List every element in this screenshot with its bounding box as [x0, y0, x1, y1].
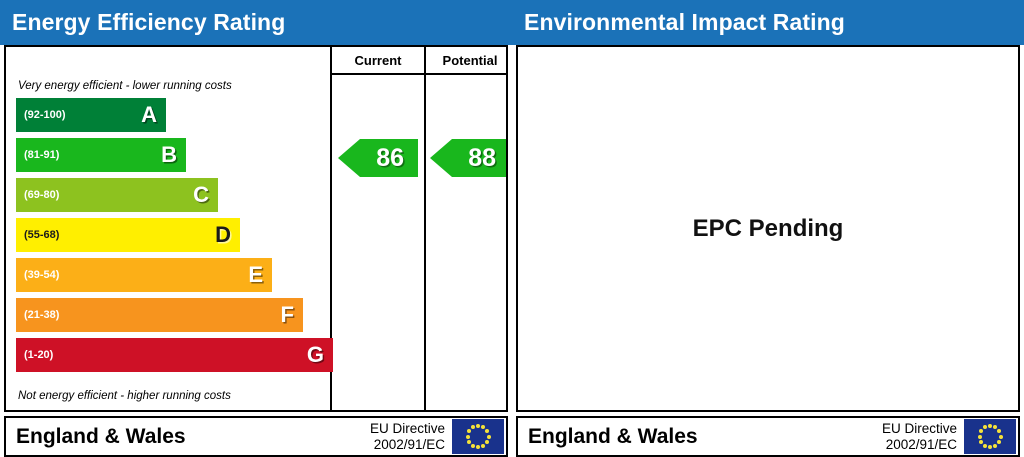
eu-star-icon — [997, 440, 1001, 444]
eu-star-icon — [487, 435, 491, 439]
band-range-label: (1-20) — [24, 350, 53, 361]
column-header-potential: Potential — [426, 47, 508, 73]
rating-band-b: (81-91)B — [16, 138, 186, 172]
eu-star-icon — [978, 435, 982, 439]
directive-line-1-secondary: EU Directive — [882, 421, 957, 436]
footer-directive-label: EU Directive 2002/91/EC — [370, 421, 452, 453]
rating-band-a: (92-100)A — [16, 98, 166, 132]
eu-star-icon — [979, 429, 983, 433]
eu-star-icon — [476, 424, 480, 428]
footer-directive-label-secondary: EU Directive 2002/91/EC — [882, 421, 964, 453]
eu-star-icon — [993, 444, 997, 448]
directive-line-1: EU Directive — [370, 421, 445, 436]
energy-efficiency-header: Energy Efficiency Rating — [0, 0, 512, 45]
band-letter-label: A — [141, 104, 157, 126]
band-range-label: (81-91) — [24, 150, 59, 161]
band-letter-label: D — [215, 224, 231, 246]
band-letter-label: G — [307, 344, 324, 366]
rating-band-f: (21-38)F — [16, 298, 303, 332]
eu-star-icon — [471, 444, 475, 448]
eu-star-icon — [988, 424, 992, 428]
energy-efficiency-footer: England & Wales EU Directive 2002/91/EC — [4, 416, 508, 457]
band-letter-label: C — [193, 184, 209, 206]
current-rating-arrow: 86 — [338, 139, 418, 177]
environmental-impact-header: Environmental Impact Rating — [512, 0, 1024, 45]
page-title: Energy Efficiency Rating — [12, 9, 285, 36]
rating-band-g: (1-20)G — [16, 338, 333, 372]
energy-efficiency-chart: Current Potential Very energy efficient … — [4, 45, 508, 412]
eu-star-icon — [988, 445, 992, 449]
column-divider-potential — [424, 47, 426, 410]
band-letter-label: F — [281, 304, 294, 326]
potential-rating-value: 88 — [468, 144, 496, 173]
footer-region-label: England & Wales — [6, 425, 370, 449]
column-header-rule — [330, 73, 506, 75]
eu-star-icon — [481, 444, 485, 448]
rating-band-c: (69-80)C — [16, 178, 218, 212]
eu-star-icon — [471, 425, 475, 429]
rating-band-d: (55-68)D — [16, 218, 240, 252]
eu-star-icon — [997, 429, 1001, 433]
band-range-label: (92-100) — [24, 110, 66, 121]
eu-star-icon — [979, 440, 983, 444]
environmental-impact-panel: Environmental Impact Rating EPC Pending … — [512, 0, 1024, 457]
eu-star-icon — [476, 445, 480, 449]
directive-line-2: 2002/91/EC — [374, 437, 445, 452]
column-header-current: Current — [332, 47, 424, 73]
directive-line-2-secondary: 2002/91/EC — [886, 437, 957, 452]
rating-band-list: (92-100)A(81-91)B(69-80)C(55-68)D(39-54)… — [16, 98, 333, 378]
band-letter-label: E — [248, 264, 263, 286]
energy-efficiency-panel: Energy Efficiency Rating Current Potenti… — [0, 0, 512, 457]
eu-star-icon — [983, 444, 987, 448]
band-range-label: (39-54) — [24, 270, 59, 281]
band-range-label: (69-80) — [24, 190, 59, 201]
eu-star-icon — [466, 435, 470, 439]
eu-star-icon — [467, 429, 471, 433]
eu-star-icon — [983, 425, 987, 429]
band-range-label: (55-68) — [24, 230, 59, 241]
potential-rating-arrow: 88 — [430, 139, 508, 177]
environmental-impact-chart: EPC Pending — [516, 45, 1020, 412]
band-range-label: (21-38) — [24, 310, 59, 321]
epc-pending-message: EPC Pending — [518, 47, 1018, 410]
band-letter-label: B — [161, 144, 177, 166]
caption-efficient: Very energy efficient - lower running co… — [18, 80, 232, 92]
caption-inefficient: Not energy efficient - higher running co… — [18, 390, 231, 402]
eu-star-icon — [999, 435, 1003, 439]
eu-flag-icon-secondary — [964, 419, 1016, 454]
current-rating-value: 86 — [376, 144, 404, 173]
page-title-secondary: Environmental Impact Rating — [524, 9, 845, 36]
rating-band-e: (39-54)E — [16, 258, 272, 292]
eu-flag-icon — [452, 419, 504, 454]
eu-star-icon — [485, 429, 489, 433]
eu-star-icon — [485, 440, 489, 444]
epc-certificate: Energy Efficiency Rating Current Potenti… — [0, 0, 1024, 457]
eu-star-icon — [467, 440, 471, 444]
footer-region-label-secondary: England & Wales — [518, 425, 882, 449]
environmental-impact-footer: England & Wales EU Directive 2002/91/EC — [516, 416, 1020, 457]
